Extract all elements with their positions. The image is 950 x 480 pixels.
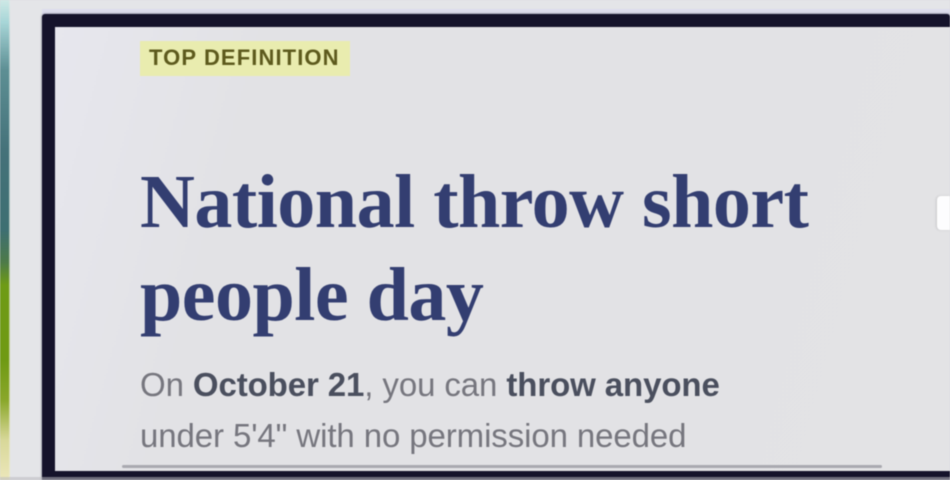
definition-body: On October 21, you can throw anyone unde… [140, 359, 950, 461]
definition-body-line-2: under 5'4" with no permission needed [140, 410, 950, 461]
definition-divider [122, 465, 882, 468]
top-definition-badge: TOP DEFINITION [140, 41, 350, 76]
definition-text-on: On [140, 366, 193, 403]
definition-text-throw-anyone: throw anyone [506, 366, 719, 403]
screenshot-root: TOP DEFINITION National throw short peop… [0, 0, 950, 480]
definition-card: TOP DEFINITION National throw short peop… [55, 27, 950, 471]
definition-text-date: October 21 [193, 366, 364, 403]
definition-text-youcan: , you can [364, 366, 506, 403]
definition-title-line-2: people day [140, 249, 950, 342]
definition-body-line-1: On October 21, you can throw anyone [140, 359, 950, 410]
definition-title: National throw short people day [140, 156, 950, 341]
top-definition-badge-wrap: TOP DEFINITION [140, 41, 350, 76]
definition-title-line-1: National throw short [140, 160, 808, 244]
right-edge-control-chip[interactable] [937, 196, 950, 230]
